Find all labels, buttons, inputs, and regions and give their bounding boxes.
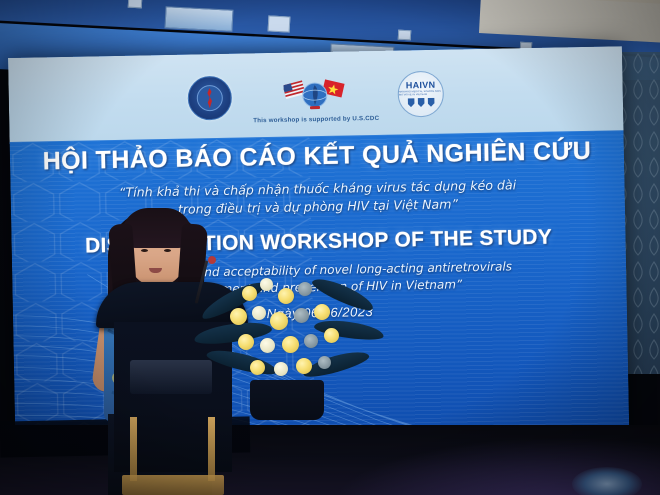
speaker-eye-left [141,249,148,252]
vaac-logo-circle [187,76,232,121]
us-vietnam-flags-logo [283,75,346,118]
rose-1 [242,286,257,301]
us-vietnam-flags-icon [283,75,346,118]
podium-leg-left [130,417,137,481]
microphone-head-icon [208,256,216,264]
rose-7 [270,312,288,330]
ceiling-light-3 [398,30,412,41]
rose-12 [282,336,299,353]
vaac-logo [187,76,232,121]
rose-10 [238,334,254,350]
rose-8 [294,308,309,323]
stage-light-reflection [572,467,642,495]
rose-17 [296,358,312,374]
rose-5 [230,308,247,325]
shield-icon-3 [427,98,434,107]
rose-16 [274,362,288,376]
shield-icon-1 [407,98,414,107]
ceiling-light-1 [128,0,143,8]
flower-arrangement [198,268,378,418]
rose-9 [314,304,330,320]
rose-2 [260,278,273,291]
rose-18 [318,356,331,369]
haivn-shield-row [407,98,434,108]
rose-13 [304,334,318,348]
podium-base [122,475,224,495]
conference-photo-scene: HAIVN HARVARD MEDICAL SCHOOL AIDS INITIA… [0,0,660,495]
rose-15 [250,360,265,375]
rose-11 [260,338,275,353]
shield-icon-2 [417,98,424,107]
ceiling-vent-1 [164,6,233,32]
podium-leg-right [208,417,215,481]
haivn-logo-sublabel: HARVARD MEDICAL SCHOOL AIDS INITIATIVE I… [399,91,443,97]
ceiling-light-2 [268,15,291,32]
rose-4 [298,282,312,296]
haivn-logo-circle: HAIVN HARVARD MEDICAL SCHOOL AIDS INITIA… [397,71,444,118]
flower-vase [250,380,324,420]
rose-3 [278,288,294,304]
speaker-eye-right [164,249,171,252]
rose-14 [324,328,339,343]
rose-6 [252,306,266,320]
haivn-logo: HAIVN HARVARD MEDICAL SCHOOL AIDS INITIA… [397,71,444,118]
